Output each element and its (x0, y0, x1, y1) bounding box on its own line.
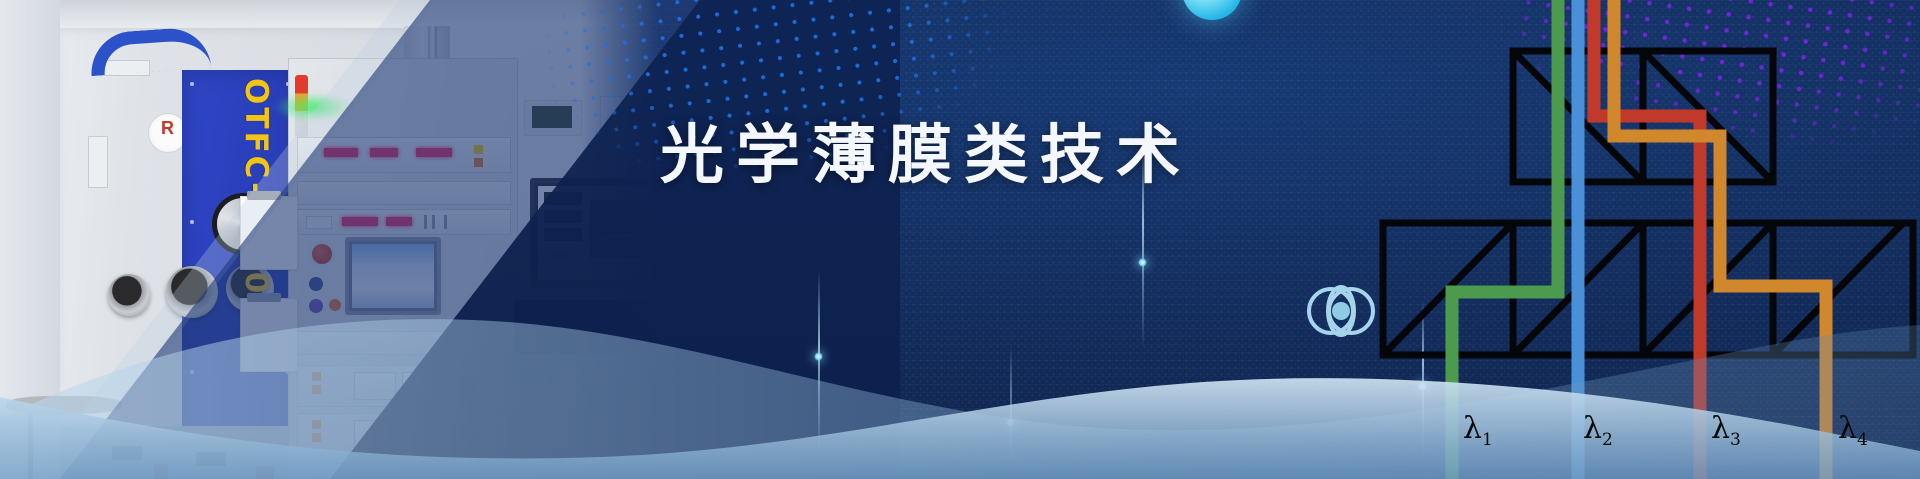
lambda3-index: 3 (1730, 430, 1741, 450)
machine-blue-hose (89, 26, 212, 76)
lambda2-index: 2 (1602, 430, 1613, 450)
lambda3-symbol: λ (1711, 411, 1730, 446)
lambda1-index: 1 (1482, 430, 1493, 450)
lambda1-symbol: λ (1463, 411, 1482, 446)
label-lambda3: λ3 (1711, 414, 1741, 449)
lambda2-symbol: λ (1583, 411, 1602, 446)
lambda4-symbol: λ (1838, 411, 1857, 446)
bottom-wave-graphic (0, 269, 1920, 479)
machine-switch-box (88, 136, 108, 188)
label-lambda2: λ2 (1583, 414, 1613, 449)
label-lambda4: λ4 (1838, 414, 1868, 449)
glow-dot-2 (1138, 258, 1147, 267)
lambda4-index: 4 (1857, 430, 1868, 450)
page-title: 光学薄膜类技术 (660, 104, 1192, 196)
optical-thin-film-banner: OTFC-1300 (0, 0, 1920, 479)
label-lambda1: λ1 (1463, 414, 1493, 449)
